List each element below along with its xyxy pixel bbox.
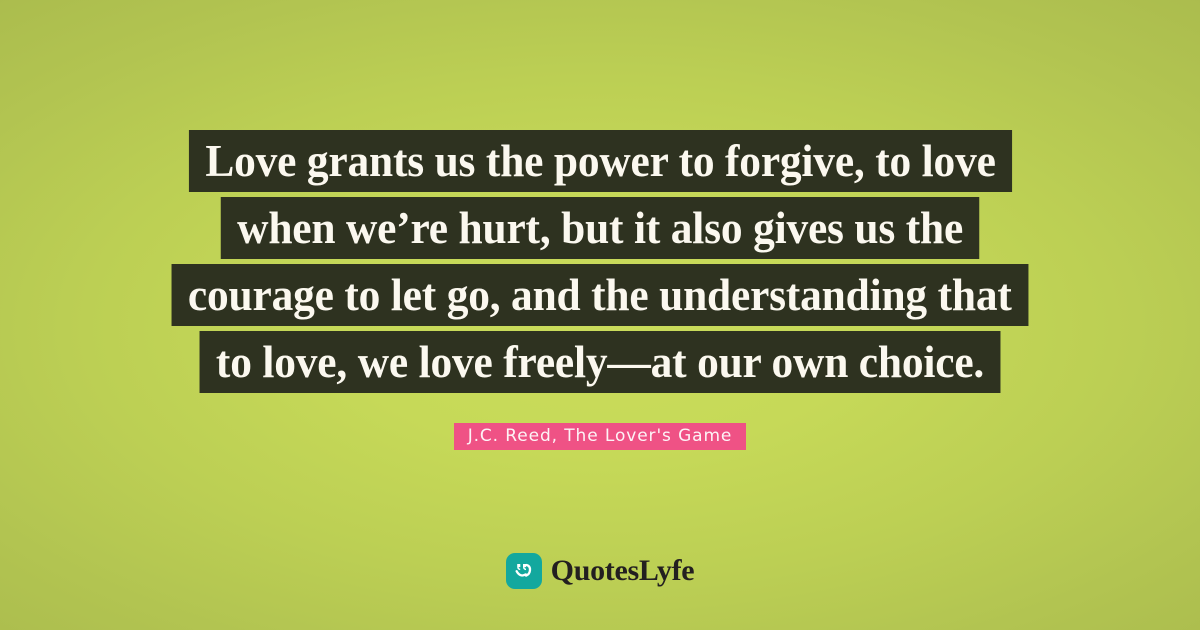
quote-line: Love grants us the power to forgive, to …: [188, 130, 1011, 192]
quote-line: courage to let go, and the understanding…: [172, 264, 1028, 326]
quote-line: when we’re hurt, but it also gives us th…: [221, 197, 980, 259]
quote-line: to love, we love freely—at our own choic…: [200, 331, 1001, 393]
quote-card: Love grants us the power to forgive, to …: [0, 0, 1200, 630]
brand-name: QuotesLyfe: [551, 554, 695, 588]
smiley-quote-icon: [506, 553, 542, 589]
quote-text-block: Love grants us the power to forgive, to …: [0, 130, 1200, 398]
attribution-badge: J.C. Reed, The Lover's Game: [454, 423, 747, 450]
brand-logo[interactable]: QuotesLyfe: [0, 553, 1200, 589]
attribution-container: J.C. Reed, The Lover's Game: [0, 423, 1200, 450]
